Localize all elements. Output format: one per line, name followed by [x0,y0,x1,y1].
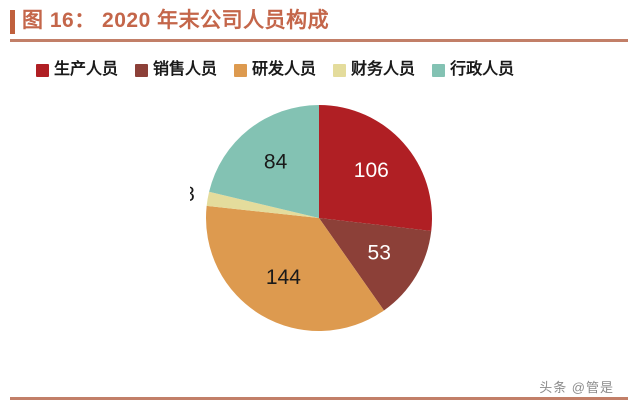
legend-item-label: 行政人员 [450,61,514,79]
legend-item-label: 财务人员 [351,61,415,79]
legend-swatch-icon [333,64,346,77]
pie-chart: 10653144884 [190,95,450,345]
legend-item[interactable]: 财务人员 [333,61,415,79]
chart-plot-area: 10653144884 [0,95,640,370]
chart-header: 图 16： 2020 年末公司人员构成 [0,0,640,44]
legend-swatch-icon [36,64,49,77]
pie-slice-value-label: 144 [266,266,301,289]
chart-page: 图 16： 2020 年末公司人员构成 生产人员销售人员研发人员财务人员行政人员… [0,0,640,409]
legend-item[interactable]: 销售人员 [135,61,217,79]
legend-item-label: 生产人员 [54,61,118,79]
legend-item[interactable]: 行政人员 [432,61,514,79]
pie-slice-group [206,105,432,331]
legend-swatch-icon [135,64,148,77]
chart-legend: 生产人员销售人员研发人员财务人员行政人员 [36,58,606,82]
pie-slice-value-label: 106 [354,159,389,182]
bottom-divider [10,397,628,400]
legend-swatch-icon [234,64,247,77]
pie-slice-value-label: 8 [190,183,195,206]
legend-swatch-icon [432,64,445,77]
title-divider [10,39,628,42]
pie-slice-value-label: 53 [368,241,391,264]
legend-item-label: 销售人员 [153,61,217,79]
title-accent-bar [10,10,15,34]
legend-item-label: 研发人员 [252,61,316,79]
page-title: 图 16： 2020 年末公司人员构成 [22,6,329,36]
pie-slice-value-label: 84 [264,151,288,174]
watermark: 头条 @管是 [539,377,614,396]
legend-item[interactable]: 研发人员 [234,61,316,79]
legend-item[interactable]: 生产人员 [36,61,118,79]
